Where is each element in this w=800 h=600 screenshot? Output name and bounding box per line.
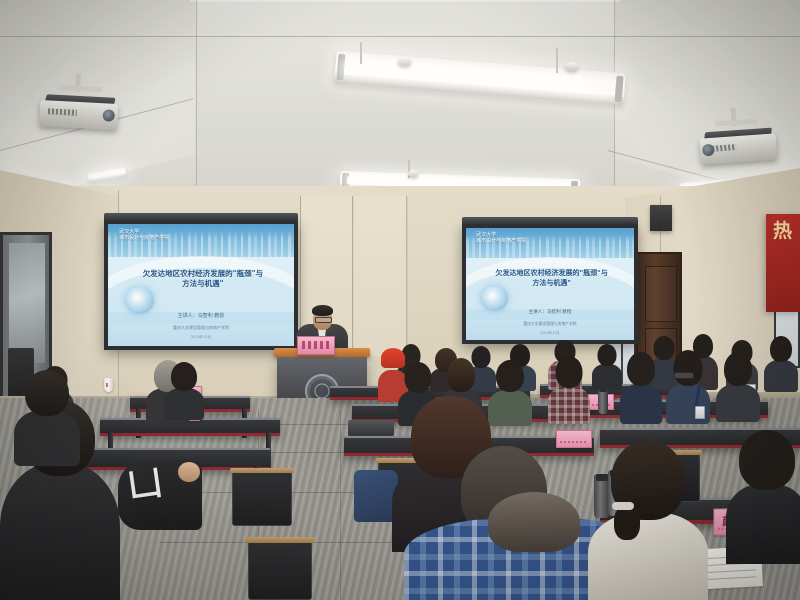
attendee-torso-checkered bbox=[548, 386, 590, 424]
smoke-detector-icon bbox=[398, 57, 411, 66]
slide-title-line-2: 方法与机遇" bbox=[123, 279, 283, 289]
door-panel bbox=[645, 266, 677, 322]
sleeve-graphic: 凵 bbox=[126, 468, 163, 503]
attendee-head bbox=[724, 352, 752, 386]
light-end-cap bbox=[615, 76, 624, 102]
laptop[interactable] bbox=[348, 420, 394, 436]
wall-seam bbox=[406, 196, 407, 356]
attendee-head bbox=[674, 350, 703, 386]
attendee-head bbox=[496, 360, 524, 392]
cup-logo bbox=[106, 383, 111, 387]
hair-tie bbox=[612, 502, 634, 510]
light-suspension-rod bbox=[360, 42, 362, 64]
presenter-title: 教授 bbox=[562, 310, 571, 315]
attendee-torso bbox=[164, 388, 204, 420]
presenter-title: 教授 bbox=[214, 313, 224, 319]
attendee-head bbox=[598, 344, 617, 366]
speaker-name-placard bbox=[297, 336, 335, 355]
name-card-subtitle bbox=[560, 441, 589, 443]
slide-presenter: 主讲人：马智利 教授 bbox=[108, 312, 294, 319]
attendee-torso bbox=[726, 484, 800, 564]
slide-organization: 重庆大学建设管理与房地产学院 bbox=[466, 321, 634, 327]
attendee-torso bbox=[0, 462, 120, 600]
door-glass-panel bbox=[9, 243, 45, 363]
attendee bbox=[666, 350, 710, 422]
attendee-torso bbox=[14, 410, 80, 466]
slide-content: 武汉大学 城市设计与房地产学院 欠发达地区农村经济发展的"瓶颈"与 方法与机遇"… bbox=[466, 228, 634, 340]
slide-presenter: 主讲人：马智利 教授 bbox=[466, 309, 634, 315]
university-logo: 武汉大学 城市设计与房地产学院 bbox=[119, 229, 169, 242]
slide-title: 欠发达地区农村经济发展的"瓶颈"与 方法与机遇" bbox=[479, 269, 623, 288]
chair-backrest-trim bbox=[230, 468, 294, 473]
slide-date: 2019年11月 bbox=[108, 335, 294, 340]
desk-edge bbox=[100, 433, 280, 436]
chair-backrest-trim bbox=[245, 537, 315, 543]
slide-title-line-2: 方法与机遇" bbox=[479, 279, 623, 288]
presenter-hair bbox=[312, 305, 333, 316]
projection-screen-left: 武汉大学 城市设计与房地产学院 欠发达地区农村经济发展的"瓶颈"与 方法与机遇"… bbox=[104, 220, 298, 350]
welcome-banner: 热 bbox=[766, 214, 800, 312]
presenter-label: 主讲人： bbox=[529, 310, 547, 315]
slide-header-band: 武汉大学 城市设计与房地产学院 bbox=[466, 228, 634, 258]
wall-panel bbox=[352, 196, 408, 356]
attendee-head bbox=[739, 430, 795, 490]
attendee-head bbox=[25, 370, 69, 416]
attendee-torso-light-top bbox=[588, 512, 708, 600]
attendee-head bbox=[770, 336, 792, 362]
slide-title-line-1: 欠发达地区农村经济发展的"瓶颈"与 bbox=[123, 269, 283, 279]
projection-screen-right: 武汉大学 城市设计与房地产学院 欠发达地区农村经济发展的"瓶颈"与 方法与机遇"… bbox=[462, 224, 638, 344]
wall-seam bbox=[352, 196, 353, 356]
bottle-cap bbox=[599, 388, 607, 392]
screen-housing bbox=[104, 213, 298, 221]
logo-line-2: 城市设计与房地产学院 bbox=[119, 235, 169, 241]
smoke-detector-icon bbox=[565, 62, 578, 71]
attendee-torso bbox=[716, 384, 760, 422]
id-badge bbox=[695, 406, 705, 419]
university-logo: 武汉大学 城市设计与房地产学院 bbox=[476, 232, 526, 245]
attendee-hand bbox=[178, 462, 200, 482]
projector-lens bbox=[701, 144, 714, 157]
attendee-head bbox=[488, 492, 580, 552]
paper-cup bbox=[104, 378, 113, 392]
presenter-label: 主讲人： bbox=[178, 313, 198, 319]
attendee bbox=[764, 336, 798, 390]
attendee bbox=[164, 362, 204, 418]
slide-organization: 重庆大学建设管理与房地产学院 bbox=[108, 325, 294, 331]
attendee-head bbox=[556, 356, 583, 388]
presenter-name: 马智利 bbox=[198, 313, 213, 319]
floor-seam bbox=[340, 410, 341, 600]
attendee-head bbox=[405, 362, 432, 393]
ceiling-projector bbox=[39, 86, 119, 134]
water-bottle bbox=[598, 388, 608, 414]
ceiling-seam bbox=[196, 0, 197, 190]
wall-speaker bbox=[650, 205, 672, 231]
ceiling-projector bbox=[699, 119, 778, 168]
presenter-name: 马智利 bbox=[547, 310, 561, 315]
attendee-head bbox=[627, 352, 655, 386]
attendee bbox=[716, 352, 760, 420]
attendee-foreground-right bbox=[588, 440, 708, 600]
slide-orb-graphic bbox=[481, 286, 508, 311]
attendee bbox=[620, 352, 662, 422]
slide-header-band: 武汉大学 城市设计与房地产学院 bbox=[108, 224, 294, 257]
ceiling-seam bbox=[190, 0, 620, 2]
attendee-head-long-hair bbox=[447, 358, 475, 392]
glasses-icon bbox=[674, 372, 694, 379]
light-suspension-rod bbox=[556, 48, 558, 73]
projector-plate bbox=[58, 85, 102, 92]
slide-date: 2019年11月 bbox=[466, 330, 634, 335]
attendee-head bbox=[171, 362, 197, 391]
lecture-hall-photo: 热 武汉大学 城市设计与房地产学院 欠发达地区农村经济发展的"瓶颈"与 方法与机… bbox=[0, 0, 800, 600]
attendee bbox=[726, 430, 800, 560]
slide-content: 武汉大学 城市设计与房地产学院 欠发达地区农村经济发展的"瓶颈"与 方法与机遇"… bbox=[108, 224, 294, 346]
glasses-icon bbox=[315, 317, 332, 323]
placard-text bbox=[302, 341, 331, 348]
smoke-detector-icon bbox=[408, 170, 418, 177]
attendee-torso bbox=[592, 364, 622, 390]
attendee bbox=[14, 370, 80, 460]
logo-line-2: 城市设计与房地产学院 bbox=[476, 238, 526, 244]
chair[interactable] bbox=[232, 470, 292, 526]
slide-title: 欠发达地区农村经济发展的"瓶颈"与 方法与机遇" bbox=[123, 269, 283, 289]
ceiling-seam bbox=[0, 36, 800, 37]
attendee bbox=[592, 344, 622, 388]
screen-housing bbox=[462, 217, 638, 225]
attendee-torso bbox=[764, 360, 798, 392]
ponytail bbox=[614, 506, 640, 540]
chair[interactable] bbox=[248, 540, 312, 600]
attendee bbox=[548, 356, 590, 422]
attendee-torso bbox=[620, 384, 662, 424]
slide-title-line-1: 欠发达地区农村经济发展的"瓶颈"与 bbox=[479, 269, 623, 278]
